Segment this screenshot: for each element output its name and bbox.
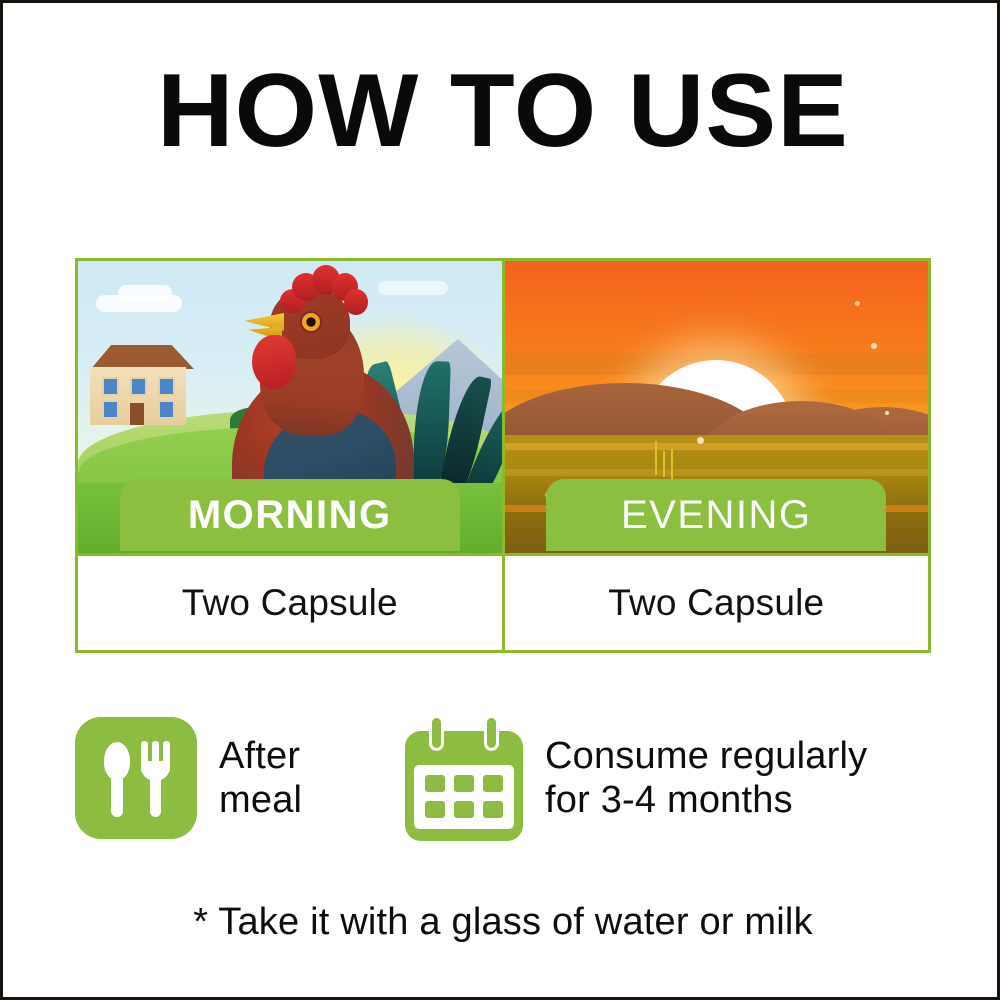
house-window	[158, 377, 175, 396]
feature-after-meal-line2: meal	[219, 778, 302, 822]
feature-duration-line1: Consume regularly	[545, 734, 867, 778]
dose-text-morning: Two Capsule	[182, 582, 398, 624]
feature-after-meal: After meal	[75, 717, 405, 839]
how-to-use-infographic: HOW TO USE	[0, 0, 1000, 1000]
feature-duration-line2: for 3-4 months	[545, 778, 867, 822]
schedule-card-morning[interactable]: MORNING	[78, 261, 502, 553]
label-morning: MORNING	[120, 479, 460, 551]
schedule-dose-row: Two Capsule Two Capsule	[78, 553, 928, 650]
dose-text-evening: Two Capsule	[608, 582, 824, 624]
feature-after-meal-text: After meal	[219, 734, 302, 822]
feature-after-meal-line1: After	[219, 734, 302, 778]
cloud-icon	[118, 285, 172, 301]
house-body	[90, 367, 186, 425]
house-window	[102, 377, 119, 396]
schedule-images-row: MORNING	[78, 261, 928, 553]
dose-cell-evening: Two Capsule	[502, 556, 929, 650]
spoon-fork-icon	[75, 717, 197, 839]
label-evening: EVENING	[546, 479, 886, 551]
house-window	[130, 377, 147, 396]
features-row: After meal Consume regularly	[75, 715, 945, 841]
calendar-icon	[405, 715, 523, 841]
rooster-comb	[278, 265, 370, 319]
dose-cell-morning: Two Capsule	[78, 556, 502, 650]
feature-duration-text: Consume regularly for 3-4 months	[545, 734, 867, 822]
footnote-text: * Take it with a glass of water or milk	[3, 901, 1000, 944]
schedule-card-evening[interactable]: EVENING	[502, 261, 929, 553]
page-title: HOW TO USE	[0, 55, 1000, 167]
rooster-wattle	[252, 335, 296, 389]
house-window	[102, 400, 119, 419]
house-door	[130, 403, 144, 425]
schedule-table: MORNING	[75, 258, 931, 653]
house-window	[158, 400, 175, 419]
rooster-eye	[302, 313, 320, 331]
feature-duration: Consume regularly for 3-4 months	[405, 715, 945, 841]
